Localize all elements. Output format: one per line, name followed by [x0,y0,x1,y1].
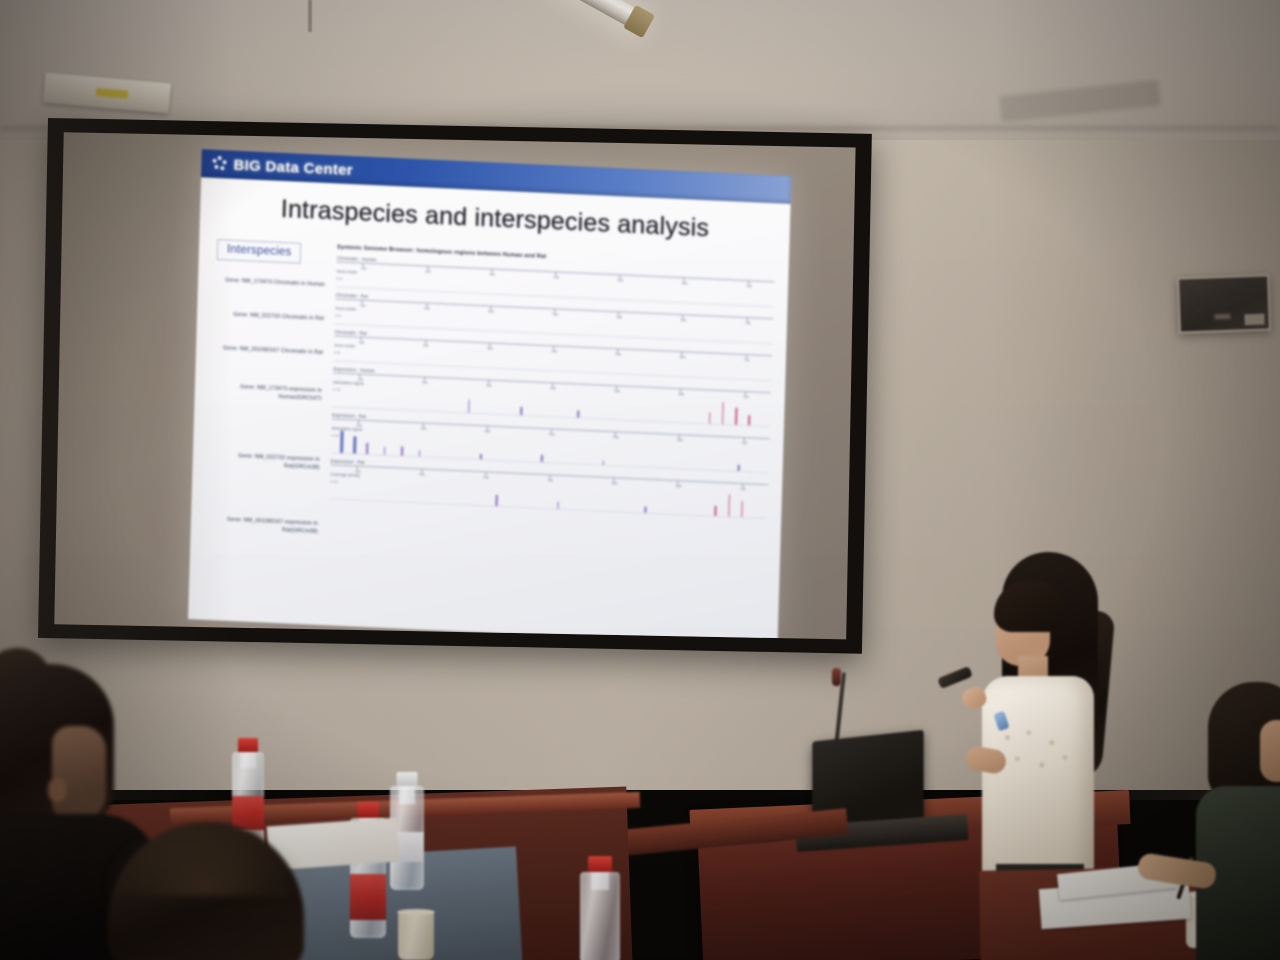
audience-member-second-left [108,822,318,960]
axis-tick: 60k [682,352,683,355]
lane-tag: Gene model [336,269,357,274]
axis-tick: 50k [614,478,615,481]
axis-tick: 40k [549,475,550,478]
axis-tick: 50k [618,312,619,315]
axis-tick: 20k [422,424,423,427]
axis-tick: 60k [684,278,685,281]
axis-tick: 50k [616,386,617,389]
axis-tick: 60k [680,389,681,392]
genome-peak [401,446,403,455]
genome-peak [521,407,523,415]
axis-tick: 50k [615,432,616,435]
light-support-rod [308,0,312,32]
axis-tick: 30k [487,426,488,429]
genome-peak [738,465,740,471]
axis-tick: 10k [362,301,363,304]
audience-member-right [1176,682,1280,960]
genome-browser-column: Syntenic Genome Browser: homologous regi… [329,244,775,556]
axis-tick: 60k [678,481,679,484]
genome-peak [384,447,386,455]
axis-tick: 10k [363,264,364,267]
axis-tick: 20k [425,341,426,344]
axis-tick: 40k [555,272,556,275]
lane-scale: 0-50 [334,350,340,354]
axis-tick: 30k [490,306,491,309]
genome-peak [748,415,750,425]
water-bottle[interactable] [580,872,620,960]
axis-tick: 70k [743,438,744,441]
lane-scale: 0-120 [330,479,338,483]
lane-tag: Gene model [335,306,356,311]
axis-tick: 20k [426,304,427,307]
attendee-face [52,726,106,822]
axis-tick: 30k [491,269,492,272]
axis-tick: 70k [745,392,746,395]
genome-peak [340,431,344,453]
axis-tick: 10k [357,467,358,470]
genome-peak [557,502,559,509]
attendee-hair-edge [102,816,310,896]
genome-peak [722,402,724,424]
microphone-head-icon [832,668,841,686]
axis-tick: 70k [748,281,749,284]
axis-tick: 40k [552,383,553,386]
presentation-room-photo: BIG Data Center Intraspecies and intersp… [0,0,1280,960]
presenter-lace-pattern [996,724,1078,786]
lane-scale: 0-50 [335,313,341,317]
axis-tick: 10k [358,421,359,424]
axis-tick: 40k [551,429,552,432]
lane-scale: 0-50 [336,276,342,280]
genome-peak [353,436,357,453]
axis-tick: 20k [421,469,422,472]
lane-scale: 0-120 [333,387,341,391]
axis-tick: 20k [424,378,425,381]
lane-tag: Methylation signal [332,426,362,431]
genome-peak [709,412,711,423]
lane-tag: Coverage density [330,472,360,477]
slide-body: Interspecies Gene: NM_173473 Chromatin i… [191,238,789,557]
axis-tick: 70k [747,318,748,321]
genome-peak [715,506,717,516]
axis-tick: 60k [683,315,684,318]
genome-peak [496,494,498,506]
genome-peak [480,454,482,459]
genome-peak [468,400,470,413]
female-presenter [960,552,1130,882]
axis-tick: 60k [679,435,680,438]
genome-peak [419,450,421,456]
genome-peak [602,460,604,464]
axis-tick: 50k [617,349,618,352]
axis-tick: 10k [361,338,362,341]
axis-tick: 70k [746,355,747,358]
lane-tag: Methylation signal [333,380,363,385]
projected-slide: BIG Data Center Intraspecies and intersp… [188,149,791,639]
lane-scale: 0-120 [331,433,339,437]
axis-tick: 30k [485,472,486,475]
paper-cup[interactable] [398,912,434,960]
genome-peak [735,408,737,425]
genome-peak [741,501,743,517]
genome-peak [577,411,579,418]
axis-tick: 30k [488,380,489,383]
attendee-face [1260,720,1280,782]
genome-peak [645,507,647,513]
lane-tag: Gene model [334,343,355,348]
genome-peak [541,455,543,462]
axis-tick: 10k [360,375,361,378]
genome-track-list: Chromatin : Human10k20k30k40k50k60k70kGe… [330,255,775,519]
genome-peak [366,443,368,454]
axis-tick: 50k [620,275,621,278]
axis-tick: 70k [742,484,743,487]
attendee-ear [48,778,66,802]
axis-tick: 40k [554,309,555,312]
genome-peak [728,494,730,516]
axis-tick: 20k [427,267,428,270]
axis-tick: 40k [553,346,554,349]
axis-tick: 30k [489,343,490,346]
